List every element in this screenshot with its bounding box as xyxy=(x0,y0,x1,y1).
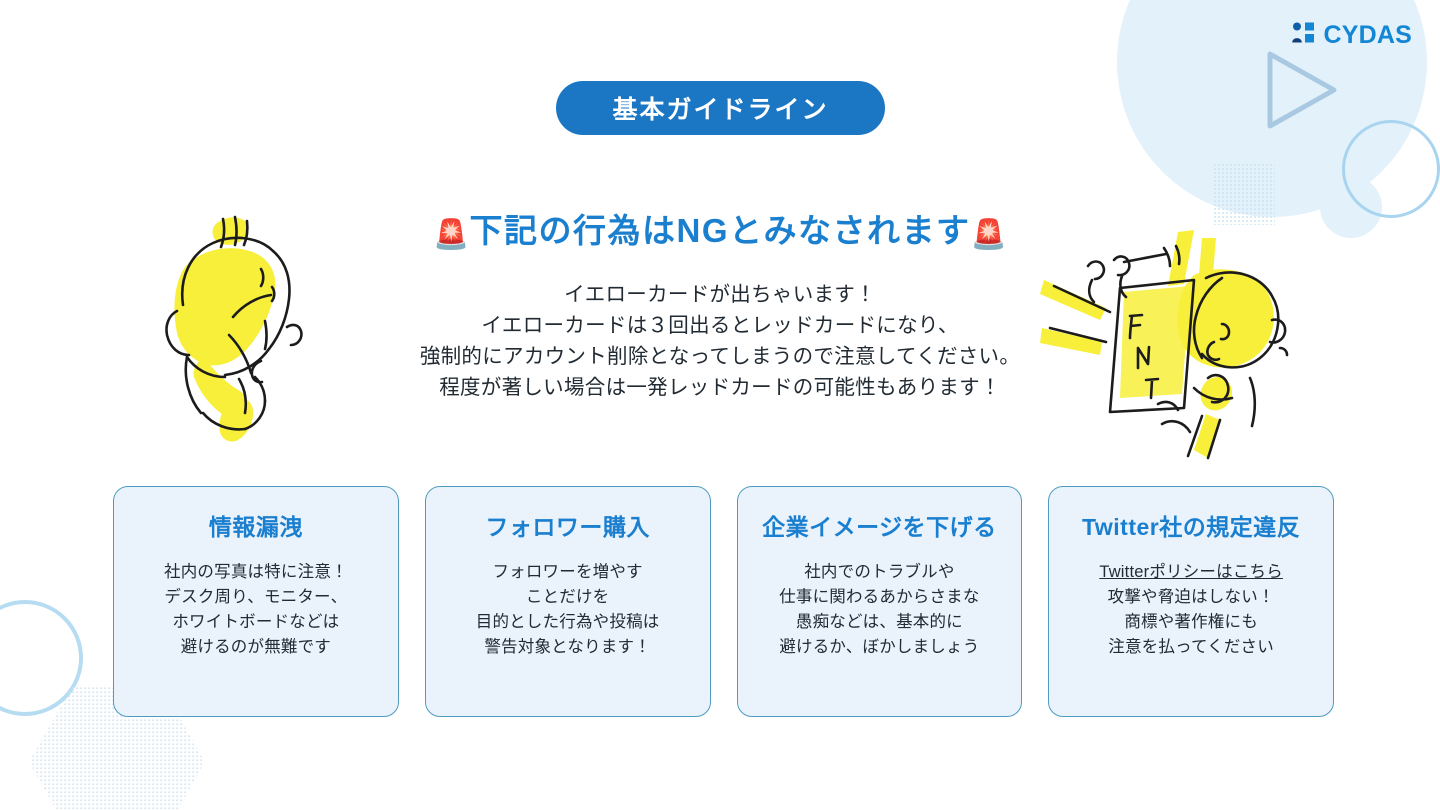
card-body: Twitterポリシーはこちら 攻撃や脅迫はしない！ 商標や著作権にも 注意を払… xyxy=(1099,560,1283,660)
card-line: ことだけを xyxy=(476,585,660,610)
siren-icon-left: 🚨 xyxy=(433,219,469,251)
section-title-pill: 基本ガイドライン xyxy=(556,81,885,135)
card-line: 愚痴などは、基本的に xyxy=(779,610,979,635)
decor-ring-top-right xyxy=(1342,120,1440,218)
card-line: 警告対象となります！ xyxy=(476,635,660,660)
card-title: 情報漏洩 xyxy=(209,514,303,542)
guideline-card-info-leak: 情報漏洩 社内の写真は特に注意！ デスク周り、モニター、 ホワイトボードなどは … xyxy=(113,486,399,717)
card-line: 社内の写真は特に注意！ xyxy=(164,560,348,585)
card-title: フォロワー購入 xyxy=(485,514,650,542)
guideline-card-follower-purchase: フォロワー購入 フォロワーを増やす ことだけを 目的とした行為や投稿は 警告対象… xyxy=(425,486,711,717)
brand-logo: CYDAS xyxy=(1291,22,1412,49)
siren-icon-right: 🚨 xyxy=(971,219,1007,251)
card-title: 企業イメージを下げる xyxy=(762,514,997,542)
decor-triangle-outline-icon xyxy=(1263,48,1341,132)
guideline-card-brand-image: 企業イメージを下げる 社内でのトラブルや 仕事に関わるあからさまな 愚痴などは、… xyxy=(737,486,1023,717)
card-title: Twitter社の規定違反 xyxy=(1082,514,1300,542)
cydas-logo-icon xyxy=(1291,22,1317,49)
illustration-worried-person xyxy=(143,207,343,462)
card-line: 商標や著作権にも xyxy=(1099,610,1283,635)
card-line: 目的とした行為や投稿は xyxy=(476,610,660,635)
twitter-policy-link[interactable]: Twitterポリシーはこちら xyxy=(1099,560,1283,585)
card-body: 社内の写真は特に注意！ デスク周り、モニター、 ホワイトボードなどは 避けるのが… xyxy=(164,560,348,660)
card-line: デスク周り、モニター、 xyxy=(164,585,348,610)
decor-ring-bottom-left xyxy=(0,600,83,716)
card-line: 避けるか、ぼかしましょう xyxy=(779,635,979,660)
card-line: 社内でのトラブルや xyxy=(779,560,979,585)
card-line: ホワイトボードなどは xyxy=(164,610,348,635)
logo-wordmark: CYDAS xyxy=(1323,23,1412,48)
illustration-penalty-person xyxy=(1036,228,1292,463)
card-line: 攻撃や脅迫はしない！ xyxy=(1099,585,1283,610)
page-title-text: 下記の行為はNGとみなされます xyxy=(470,212,971,249)
guideline-card-list: 情報漏洩 社内の写真は特に注意！ デスク周り、モニター、 ホワイトボードなどは … xyxy=(113,486,1334,717)
card-line: 避けるのが無難です xyxy=(164,635,348,660)
card-body: 社内でのトラブルや 仕事に関わるあからさまな 愚痴などは、基本的に 避けるか、ぼ… xyxy=(779,560,979,660)
slide-root: CYDAS 基本ガイドライン 🚨下記の行為はNGとみなされます🚨 イエローカード… xyxy=(0,0,1440,810)
guideline-card-twitter-policy: Twitter社の規定違反 Twitterポリシーはこちら 攻撃や脅迫はしない！… xyxy=(1048,486,1334,717)
card-body: フォロワーを増やす ことだけを 目的とした行為や投稿は 警告対象となります！ xyxy=(476,560,660,660)
card-line: 仕事に関わるあからさまな xyxy=(779,585,979,610)
card-line: フォロワーを増やす xyxy=(476,560,660,585)
card-line: 注意を払ってください xyxy=(1099,635,1283,660)
